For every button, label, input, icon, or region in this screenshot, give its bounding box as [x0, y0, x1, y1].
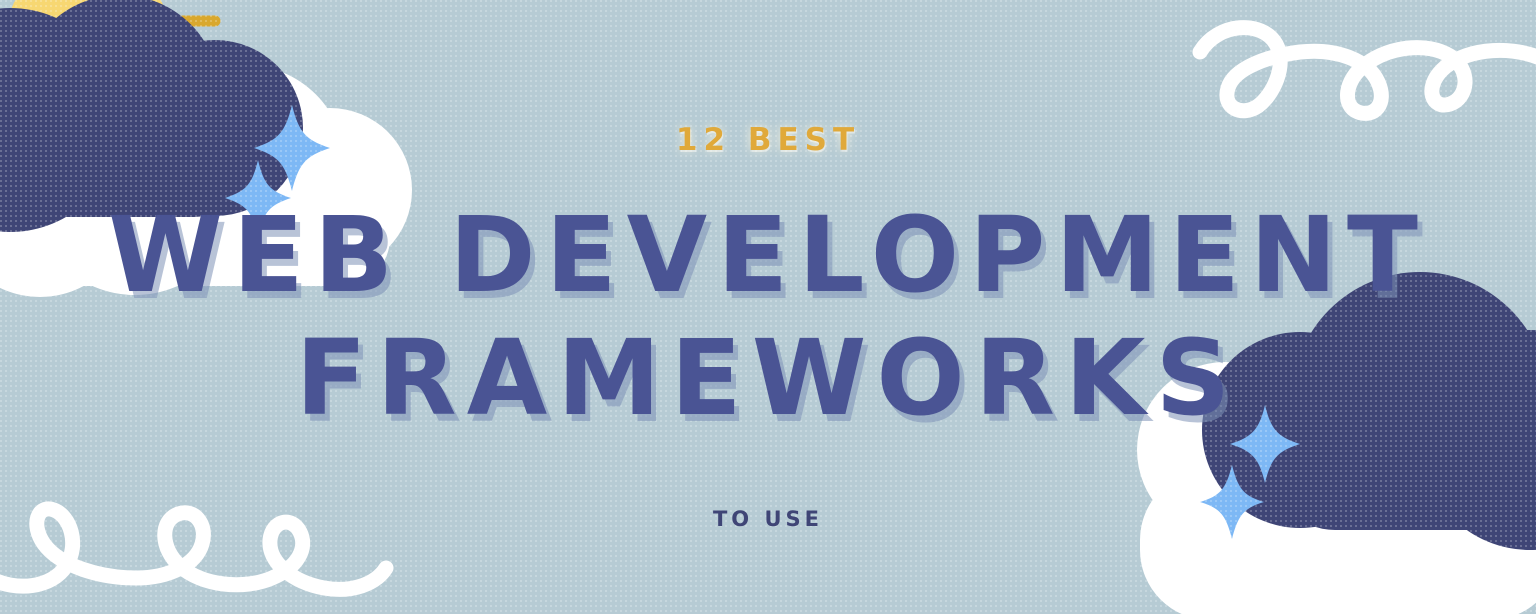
footer-text: TO USE [0, 507, 1536, 531]
page-title-line-1: WEB DEVELOPMENT [0, 203, 1536, 307]
squiggle-top-right-icon [1200, 28, 1536, 114]
banner-graphic: 12 BEST WEB DEVELOPMENT FRAMEWORKS TO US… [0, 0, 1536, 614]
eyebrow-text: 12 BEST [0, 122, 1536, 158]
page-title-line-2: FRAMEWORKS [0, 326, 1536, 430]
